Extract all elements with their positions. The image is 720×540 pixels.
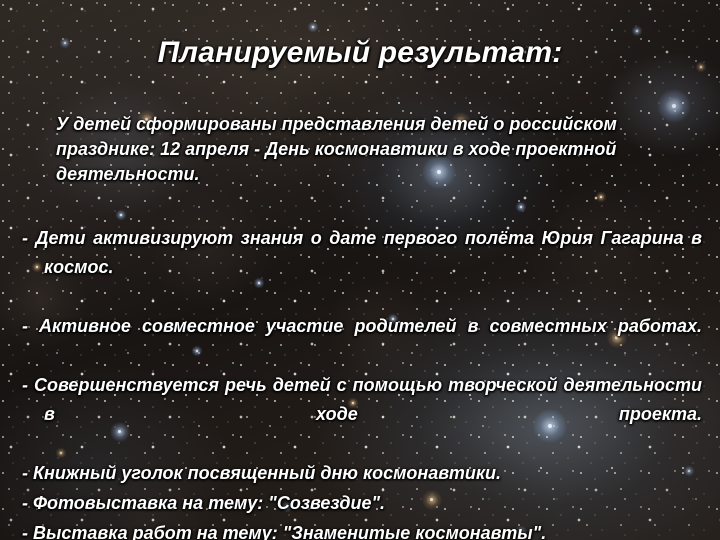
outcome-bullet-item: - Фотовыставка на тему: "Созвездие".: [22, 489, 702, 518]
outcome-bullet-text: - Выставка работ на тему: "Знаменитые ко…: [22, 523, 546, 540]
outcome-bullet-text: - Книжный уголок посвященный дню космона…: [22, 463, 501, 483]
outcome-bullet-text: - Дети активизируют знания о дате первог…: [22, 228, 702, 277]
outcome-bullet-item: - Активное совместное участие родителей …: [22, 312, 702, 370]
presentation-slide: Планируемый результат: У детей сформиров…: [0, 0, 720, 540]
outcome-bullet-text: - Совершенствуется речь детей с помощью …: [22, 375, 702, 424]
slide-content: Планируемый результат: У детей сформиров…: [0, 0, 720, 540]
outcome-bullet-item: - Выставка работ на тему: "Знаменитые ко…: [22, 519, 702, 540]
outcome-bullet-text: - Фотовыставка на тему: "Созвездие".: [22, 493, 385, 513]
outcome-bullet-item: - Совершенствуется речь детей с помощью …: [22, 371, 702, 458]
intro-paragraph: У детей сформированы представления детей…: [56, 112, 696, 187]
slide-title: Планируемый результат:: [60, 36, 660, 70]
outcome-bullet-item: - Дети активизируют знания о дате первог…: [22, 224, 702, 311]
outcome-bullet-text: - Активное совместное участие родителей …: [22, 316, 702, 336]
outcome-bullet-list: - Дети активизируют знания о дате первог…: [22, 224, 702, 540]
outcome-bullet-item: - Книжный уголок посвященный дню космона…: [22, 459, 702, 488]
